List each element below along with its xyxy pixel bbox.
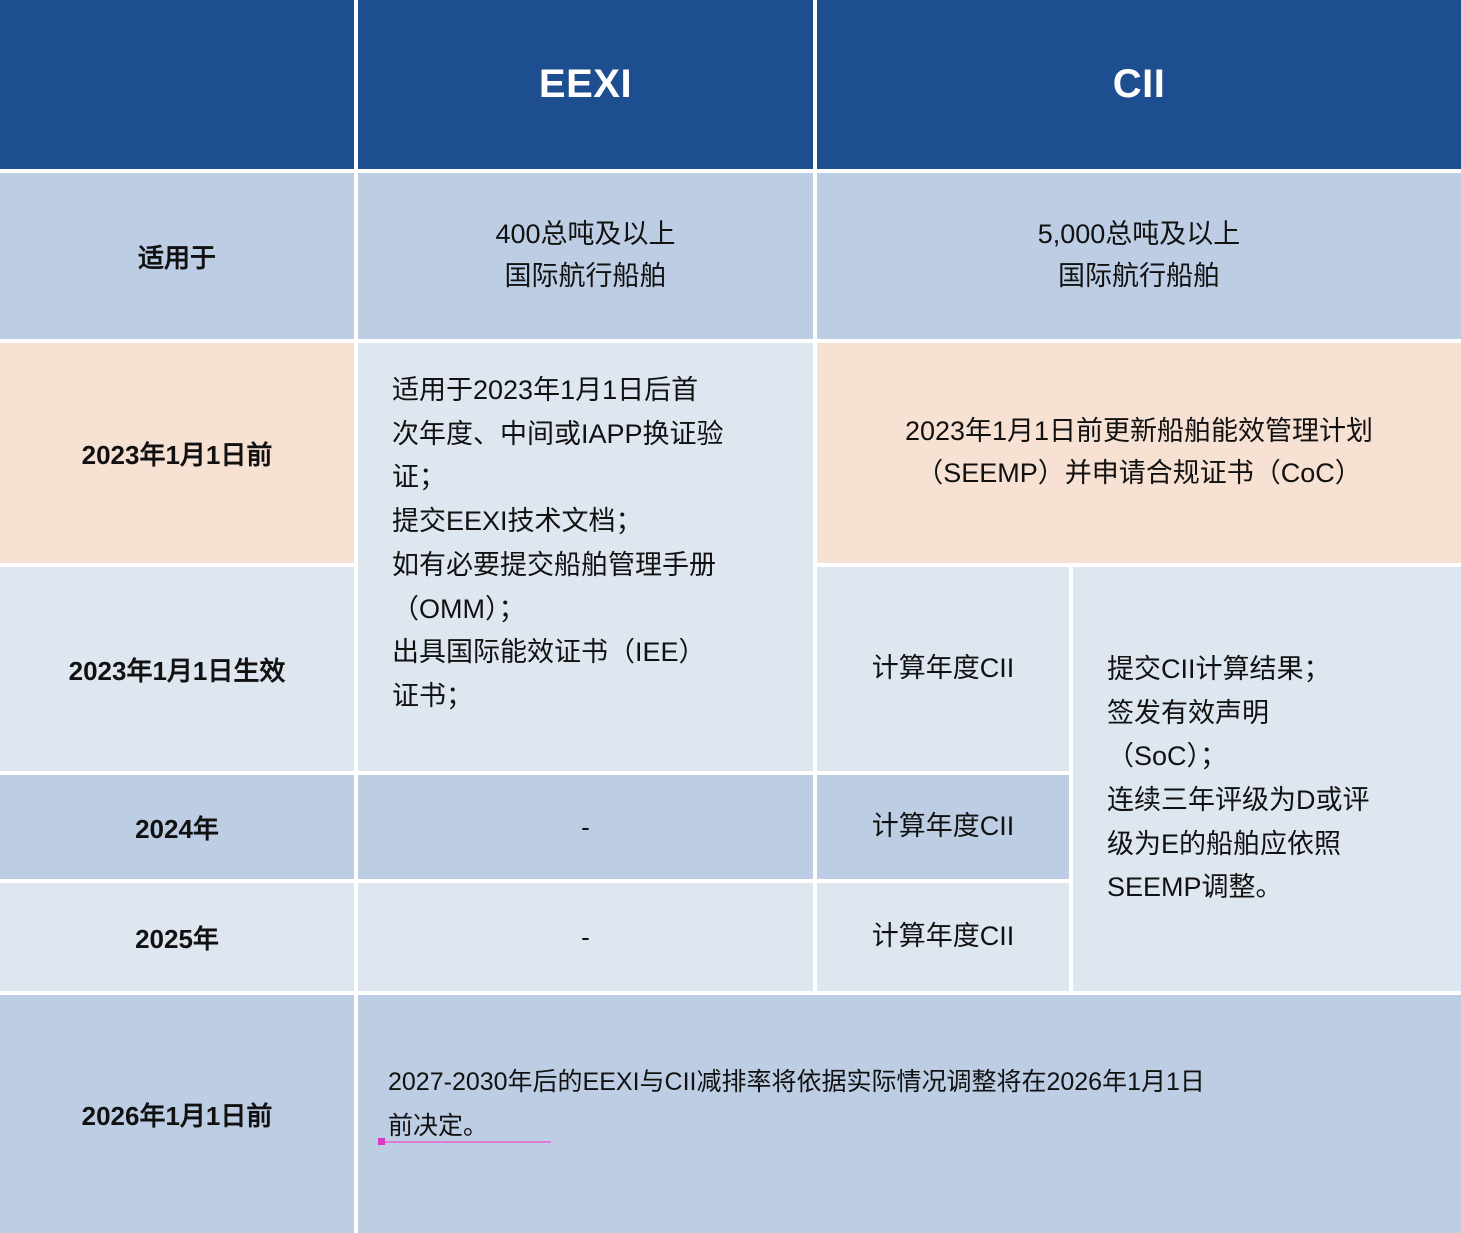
cell-applicability-cii-line1: 5,000总吨及以上 (1038, 214, 1241, 256)
cell-2024-eexi: - (358, 775, 813, 879)
row-label-effective-2023: 2023年1月1日生效 (0, 567, 354, 771)
cell-before-2023-cii-line1: 2023年1月1日前更新船舶能效管理计划 (905, 411, 1373, 453)
row-label-applicability-text: 适用于 (138, 238, 216, 275)
cell-2024-cii-calc-text: 计算年度CII (872, 806, 1015, 848)
header-corner-cell (0, 0, 354, 169)
cell-eexi-requirements-line1: 适用于2023年1月1日后首 (392, 369, 795, 413)
annotation-strikethrough-line[interactable] (381, 1141, 551, 1143)
cell-eexi-requirements-line7: 出具国际能效证书（IEE） (392, 631, 795, 675)
row-label-2024: 2024年 (0, 775, 354, 879)
cell-2024-cii-calc: 计算年度CII (817, 775, 1069, 879)
cell-eexi-requirements-line5: 如有必要提交船舶管理手册 (392, 544, 795, 588)
cell-cii-requirements-line6: SEEMP调整。 (1107, 866, 1443, 910)
row-label-before-2026-text: 2026年1月1日前 (82, 1096, 273, 1133)
row-label-before-2023: 2023年1月1日前 (0, 343, 354, 563)
cell-eexi-requirements-line6: （OMM）； (392, 588, 795, 632)
row-label-2025-text: 2025年 (135, 919, 219, 956)
cell-applicability-eexi-line1: 400总吨及以上 (495, 214, 675, 256)
cell-before-2026-note-line1: 2027-2030年后的EEXI与CII减排率将依据实际情况调整将在2026年1… (388, 1061, 1439, 1105)
header-eexi-label: EEXI (539, 62, 632, 107)
cell-2025-eexi-text: - (581, 922, 590, 953)
header-cii-cell: CII (817, 0, 1461, 169)
cell-applicability-eexi-line2: 国际航行船舶 (505, 256, 667, 298)
cell-cii-requirements-line5: 级为E的船舶应依照 (1107, 823, 1443, 867)
cell-before-2023-cii-line2: （SEEMP）并申请合规证书（CoC） (916, 453, 1362, 495)
header-cii-label: CII (1113, 62, 1166, 107)
cell-before-2026-note: 2027-2030年后的EEXI与CII减排率将依据实际情况调整将在2026年1… (358, 995, 1461, 1233)
cell-eexi-requirements-line4: 提交EEXI技术文档； (392, 500, 795, 544)
cell-applicability-eexi: 400总吨及以上 国际航行船舶 (358, 173, 813, 339)
cell-2025-eexi: - (358, 883, 813, 991)
cell-applicability-cii: 5,000总吨及以上 国际航行船舶 (817, 173, 1461, 339)
header-eexi-cell: EEXI (358, 0, 813, 169)
compliance-timeline-table: EEXI CII 适用于 400总吨及以上 国际航行船舶 5,000总吨及以上 … (0, 0, 1461, 1233)
cell-cii-requirements-line2: 签发有效声明 (1107, 692, 1443, 736)
row-label-before-2023-text: 2023年1月1日前 (82, 435, 273, 472)
cell-effective-2023-cii-calc-text: 计算年度CII (872, 648, 1015, 690)
row-label-applicability: 适用于 (0, 173, 354, 339)
cell-2025-cii-calc: 计算年度CII (817, 883, 1069, 991)
annotation-drag-handle[interactable] (378, 1138, 385, 1145)
row-label-2025: 2025年 (0, 883, 354, 991)
cell-cii-requirements-line3: （SoC）； (1107, 735, 1443, 779)
cell-eexi-requirements-line8: 证书； (392, 675, 795, 719)
cell-applicability-cii-line2: 国际航行船舶 (1058, 256, 1220, 298)
row-label-before-2026: 2026年1月1日前 (0, 995, 354, 1233)
cell-2024-eexi-text: - (581, 812, 590, 843)
cell-eexi-requirements: 适用于2023年1月1日后首 次年度、中间或IAPP换证验 证； 提交EEXI技… (358, 343, 813, 771)
cell-before-2023-cii: 2023年1月1日前更新船舶能效管理计划 （SEEMP）并申请合规证书（CoC） (817, 343, 1461, 563)
cell-cii-requirements-line4: 连续三年评级为D或评 (1107, 779, 1443, 823)
cell-effective-2023-cii-calc: 计算年度CII (817, 567, 1069, 771)
cell-eexi-requirements-line3: 证； (392, 456, 795, 500)
cell-eexi-requirements-line2: 次年度、中间或IAPP换证验 (392, 413, 795, 457)
row-label-effective-2023-text: 2023年1月1日生效 (69, 651, 286, 688)
cell-2025-cii-calc-text: 计算年度CII (872, 916, 1015, 958)
cell-cii-requirements: 提交CII计算结果； 签发有效声明 （SoC）； 连续三年评级为D或评 级为E的… (1073, 567, 1461, 991)
cell-cii-requirements-line1: 提交CII计算结果； (1107, 648, 1443, 692)
row-label-2024-text: 2024年 (135, 809, 219, 846)
